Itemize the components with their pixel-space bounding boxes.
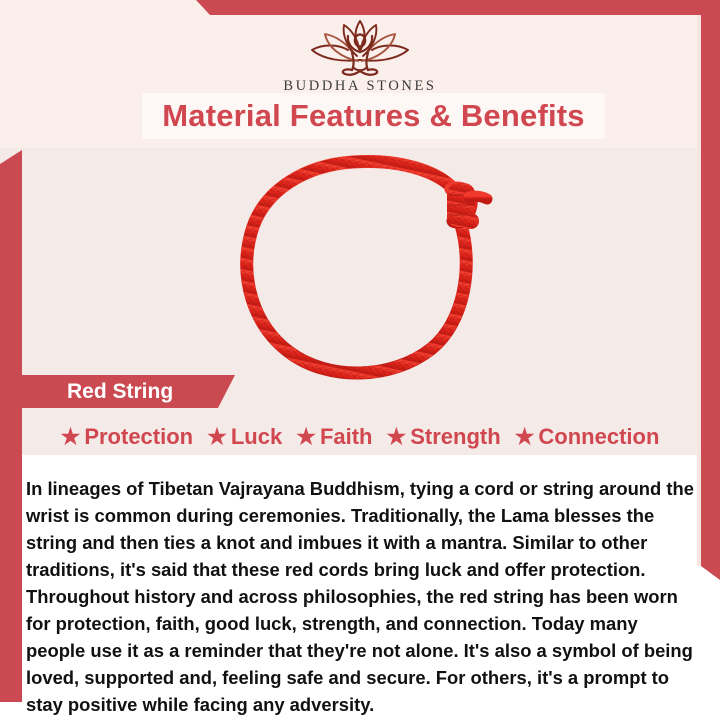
benefit-item-strength: ★ Strength bbox=[387, 424, 501, 450]
red-braided-string-bracelet-icon bbox=[225, 153, 495, 383]
decorative-red-bar-left bbox=[0, 150, 22, 702]
decorative-inner-edge-right bbox=[697, 14, 701, 566]
benefit-label: Connection bbox=[538, 424, 659, 450]
benefits-list: ★ Protection ★ Luck ★ Faith ★ Strength ★… bbox=[22, 420, 698, 454]
star-icon: ★ bbox=[296, 426, 316, 448]
benefit-label: Faith bbox=[320, 424, 373, 450]
benefit-item-luck: ★ Luck bbox=[207, 424, 282, 450]
benefit-item-faith: ★ Faith bbox=[296, 424, 372, 450]
page-title: Material Features & Benefits bbox=[162, 98, 585, 134]
description-paragraph: In lineages of Tibetan Vajrayana Buddhis… bbox=[26, 476, 696, 719]
star-icon: ★ bbox=[515, 426, 535, 448]
title-banner: Material Features & Benefits bbox=[142, 93, 605, 139]
lotus-meditation-icon bbox=[302, 16, 418, 76]
star-icon: ★ bbox=[387, 426, 407, 448]
benefit-item-connection: ★ Connection bbox=[515, 424, 660, 450]
brand-logo: BUDDHA STONES bbox=[0, 16, 720, 95]
poster-canvas: BUDDHA STONES Material Features & Benefi… bbox=[0, 0, 720, 720]
product-label: Red String bbox=[67, 380, 173, 404]
star-icon: ★ bbox=[61, 426, 81, 448]
benefit-label: Luck bbox=[231, 424, 282, 450]
star-icon: ★ bbox=[207, 426, 227, 448]
benefit-label: Protection bbox=[84, 424, 193, 450]
product-image bbox=[0, 150, 720, 385]
product-label-banner: Red String bbox=[22, 375, 235, 408]
benefit-label: Strength bbox=[410, 424, 500, 450]
benefit-item-protection: ★ Protection bbox=[61, 424, 194, 450]
